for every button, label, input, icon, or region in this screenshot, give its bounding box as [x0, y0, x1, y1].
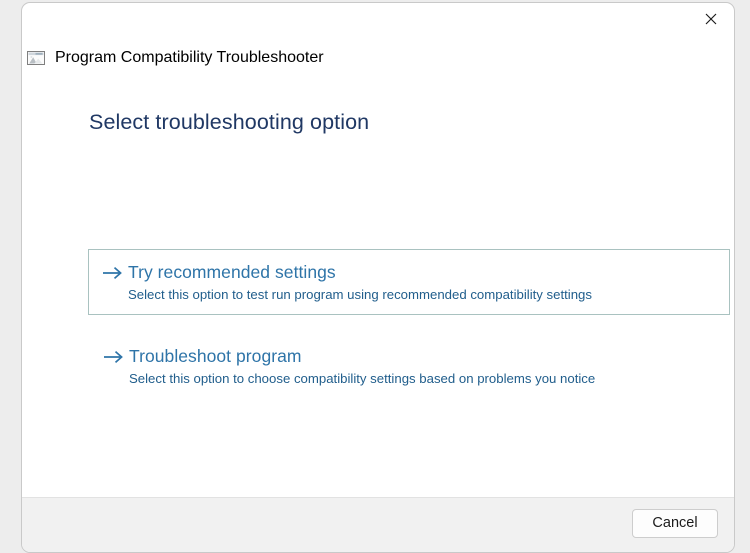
dialog-footer: Cancel: [22, 497, 734, 552]
app-title: Program Compatibility Troubleshooter: [55, 49, 324, 67]
arrow-right-icon: [102, 263, 124, 283]
option-troubleshoot-program[interactable]: Troubleshoot program Select this option …: [88, 333, 730, 399]
close-window-button[interactable]: [688, 3, 734, 35]
option-description: Select this option to test run program u…: [128, 287, 729, 303]
program-compatibility-icon: [26, 48, 46, 68]
page-title: Select troubleshooting option: [89, 110, 369, 135]
option-title: Troubleshoot program: [129, 346, 729, 366]
option-title: Try recommended settings: [128, 262, 729, 282]
cancel-button[interactable]: Cancel: [632, 509, 718, 538]
arrow-right-icon: [103, 347, 125, 367]
close-icon: [705, 13, 717, 25]
troubleshooting-option-list: Try recommended settings Select this opt…: [88, 249, 730, 399]
option-description: Select this option to choose compatibili…: [129, 371, 729, 387]
option-try-recommended-settings[interactable]: Try recommended settings Select this opt…: [88, 249, 730, 315]
dialog-titlebar: Program Compatibility Troubleshooter: [26, 47, 324, 69]
program-compatibility-troubleshooter-dialog: Program Compatibility Troubleshooter Sel…: [21, 2, 735, 553]
